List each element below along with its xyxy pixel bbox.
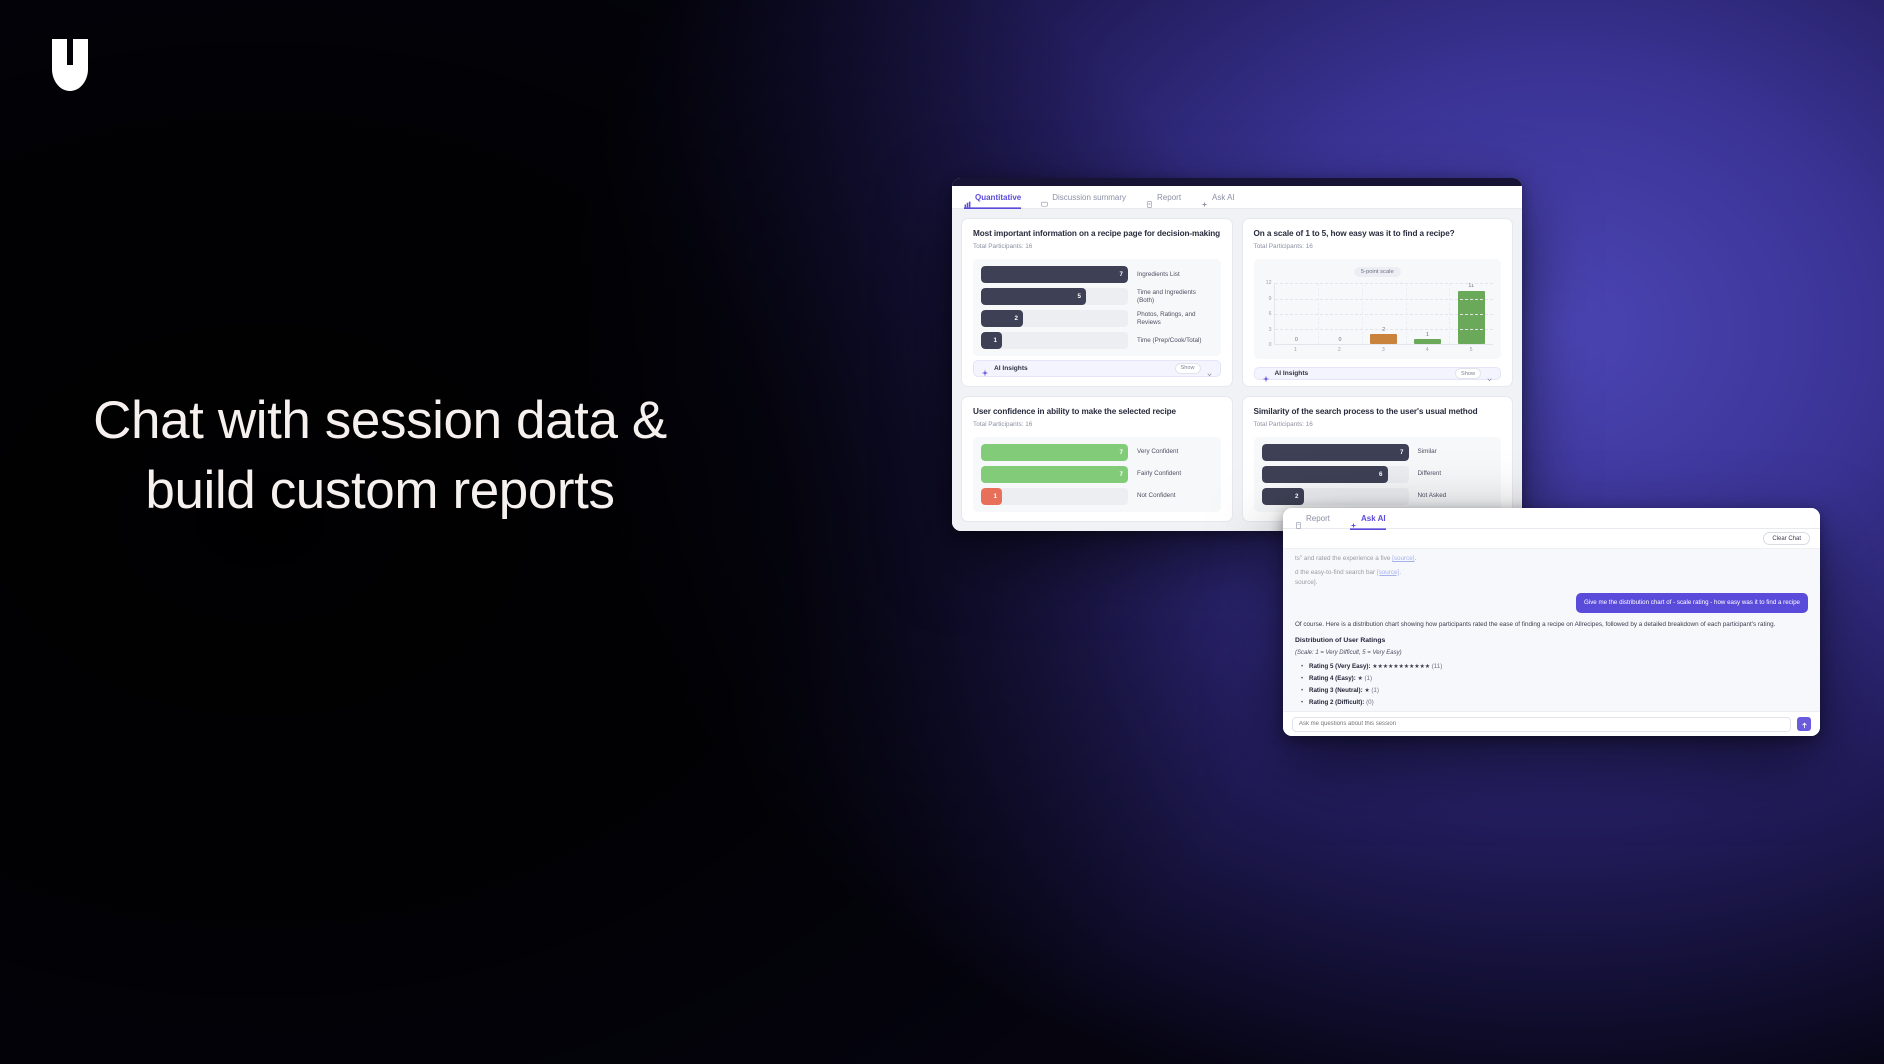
x-axis-tick: 4 [1405, 347, 1449, 353]
ai-insights-label: AI Insights [994, 365, 1028, 372]
x-axis-tick: 5 [1449, 347, 1493, 353]
bar-fill: 1 [981, 332, 1002, 349]
source-link[interactable]: [source] [1392, 555, 1414, 562]
dashboard-grid: Most important information on a recipe p… [952, 209, 1522, 531]
card-participants: Total Participants: 16 [973, 243, 1221, 250]
card-participants: Total Participants: 16 [973, 421, 1221, 428]
rating-list-item: Rating 4 (Easy): ★ (1) [1301, 674, 1808, 684]
card-participants: Total Participants: 16 [1254, 421, 1502, 428]
user-message-row: Give me the distribution chart of - scal… [1295, 593, 1808, 613]
scale-note: (Scale: 1 = Very Difficult, 5 = Very Eas… [1295, 649, 1808, 658]
bar-row: 1Not Confident [981, 488, 1213, 505]
card-title: Similarity of the search process to the … [1254, 407, 1502, 417]
distribution-section-title: Distribution of User Ratings [1295, 636, 1808, 647]
x-axis: 12345 [1274, 347, 1494, 353]
bar-fill: 7 [1262, 444, 1409, 461]
ai-insights-row[interactable]: AI Insights Show [1254, 367, 1502, 380]
send-button[interactable] [1797, 717, 1811, 731]
obscured-line-1: ts" and rated the experience a five [sou… [1295, 554, 1808, 564]
rating-list-item: Rating 5 (Very Easy): ★★★★★★★★★★★ (11) [1301, 662, 1808, 672]
bar-fill: 1 [981, 488, 1002, 505]
chevron-down-icon[interactable] [1206, 365, 1213, 372]
sparkle-icon [1262, 370, 1270, 378]
card-title: User confidence in ability to make the s… [973, 407, 1221, 417]
document-icon [1146, 194, 1153, 201]
column-value: 0 [1295, 337, 1298, 343]
card-title: Most important information on a recipe p… [973, 229, 1221, 239]
gridline [1275, 344, 1494, 345]
bar-row: 2Photos, Ratings, and Reviews [981, 310, 1213, 327]
bar-track: 2 [1262, 488, 1409, 505]
y-axis-tick: 3 [1269, 327, 1272, 333]
bar-label: Very Confident [1137, 448, 1178, 456]
rating-list-item: Rating 2 (Difficult): (0) [1301, 698, 1808, 708]
y-axis-tick: 6 [1269, 311, 1272, 317]
ai-insights-row[interactable]: AI Insights Show [973, 360, 1221, 377]
tab-label: Discussion summary [1052, 186, 1126, 209]
card-participants: Total Participants: 16 [1254, 243, 1502, 250]
bar-track: 7 [981, 444, 1128, 461]
bar-label: Not Asked [1418, 492, 1447, 500]
tab-label: Report [1306, 508, 1330, 530]
column-bar [1370, 334, 1397, 344]
bar-fill: 6 [1262, 466, 1388, 483]
bar-label: Time (Prep/Cook/Total) [1137, 337, 1202, 345]
bar-row: 7Ingredients List [981, 266, 1213, 283]
clear-chat-button[interactable]: Clear Chat [1763, 532, 1810, 545]
bar-label: Different [1418, 470, 1442, 478]
rating-count: (0) [1366, 699, 1374, 706]
rating-label: Rating 2 (Difficult): [1309, 699, 1364, 706]
bar-label: Not Confident [1137, 492, 1176, 500]
y-axis-tick: 9 [1269, 296, 1272, 302]
brand-logo [42, 33, 106, 97]
rating-label: Rating 4 (Easy): [1309, 675, 1356, 682]
bar-label: Photos, Ratings, and Reviews [1137, 311, 1213, 327]
headline-line-1: Chat with session data & [93, 391, 667, 450]
chat-tab-report[interactable]: Report [1295, 508, 1330, 530]
rating-list-item: Rating 3 (Neutral): ★ (1) [1301, 686, 1808, 696]
user-message-bubble: Give me the distribution chart of - scal… [1576, 593, 1808, 613]
tab-ask-ai[interactable]: Ask AI [1201, 186, 1235, 209]
y-axis-tick: 0 [1269, 342, 1272, 348]
card-search-similarity: Similarity of the search process to the … [1242, 396, 1514, 522]
tab-label: Quantitative [975, 186, 1021, 209]
card-title: On a scale of 1 to 5, how easy was it to… [1254, 229, 1502, 239]
column-value: 1 [1426, 332, 1429, 338]
tab-label: Report [1157, 186, 1181, 209]
quantitative-dashboard-window: Quantitative Discussion summary Report A… [952, 178, 1522, 531]
bar-label: Ingredients List [1137, 271, 1180, 279]
rating-count: (1) [1371, 687, 1379, 694]
bar-row: 1Time (Prep/Cook/Total) [981, 332, 1213, 349]
chat-tab-ask-ai[interactable]: Ask AI [1350, 508, 1386, 530]
ai-insights-show-button[interactable]: Show [1455, 368, 1481, 379]
bar-track: 2 [981, 310, 1128, 327]
rating-count: (11) [1432, 663, 1443, 670]
document-icon [1295, 515, 1302, 522]
obscured-line-3: source]. [1295, 578, 1808, 588]
tab-discussion-summary[interactable]: Discussion summary [1041, 186, 1126, 209]
chat-input[interactable] [1292, 717, 1791, 732]
horizontal-bar-chart-1: 7Ingredients List5Time and Ingredients (… [973, 259, 1221, 356]
bar-row: 7Very Confident [981, 444, 1213, 461]
tab-label: Ask AI [1212, 186, 1235, 209]
page-title: Chat with session data & build custom re… [0, 386, 760, 527]
bar-track: 1 [981, 488, 1128, 505]
tab-quantitative[interactable]: Quantitative [964, 186, 1021, 209]
rating-label: Rating 5 (Very Easy): [1309, 663, 1371, 670]
ratings-list: Rating 5 (Very Easy): ★★★★★★★★★★★ (11)Ra… [1301, 662, 1808, 711]
bar-track: 7 [1262, 444, 1409, 461]
chevron-down-icon[interactable] [1486, 370, 1493, 377]
bar-track: 1 [981, 332, 1128, 349]
source-link[interactable]: [source] [1377, 569, 1399, 576]
obscured-message-fragment: ts" and rated the experience a five [sou… [1295, 554, 1808, 587]
assistant-intro-text: Of course. Here is a distribution chart … [1295, 620, 1808, 630]
bar-label: Similar [1418, 448, 1437, 456]
obscured-line-2: d the easy-to-find search bar [source]. [1295, 568, 1808, 578]
chat-tabbar: Report Ask AI [1283, 508, 1820, 529]
bar-track: 7 [981, 466, 1128, 483]
horizontal-bar-chart-3: 7Very Confident7Fairly Confident1Not Con… [973, 437, 1221, 512]
bar-row: 7Fairly Confident [981, 466, 1213, 483]
x-axis-tick: 3 [1361, 347, 1405, 353]
bar-row: 5Time and Ingredients (Both) [981, 288, 1213, 305]
bar-track: 5 [981, 288, 1128, 305]
bar-row: 2Not Asked [1262, 488, 1494, 505]
gridline [1275, 283, 1494, 284]
dashboard-tabbar: Quantitative Discussion summary Report A… [952, 186, 1522, 209]
plot-area: 002111 [1274, 283, 1494, 345]
bar-label: Time and Ingredients (Both) [1137, 289, 1213, 305]
bar-fill: 7 [981, 444, 1128, 461]
bar-fill: 2 [981, 310, 1023, 327]
card-scale-easy-to-find: On a scale of 1 to 5, how easy was it to… [1242, 218, 1514, 387]
horizontal-bar-chart-4: 7Similar6Different2Not Asked [1254, 437, 1502, 512]
bar-row: 7Similar [1262, 444, 1494, 461]
rating-stars: ★★★★★★★★★★★ [1372, 663, 1430, 670]
card-user-confidence: User confidence in ability to make the s… [961, 396, 1233, 522]
column-chart-container: 5-point scale 129630 002111 12345 [1254, 259, 1502, 359]
gridline [1275, 329, 1494, 330]
column-plot: 129630 002111 [1262, 283, 1494, 345]
scale-badge: 5-point scale [1354, 267, 1401, 277]
headline-line-2: build custom reports [0, 456, 760, 526]
hero-section: Chat with session data & build custom re… [0, 0, 1884, 1064]
x-axis-tick: 2 [1317, 347, 1361, 353]
card-most-important-information: Most important information on a recipe p… [961, 218, 1233, 387]
bar-fill: 5 [981, 288, 1086, 305]
gridline [1275, 314, 1494, 315]
bar-track: 7 [981, 266, 1128, 283]
sparkle-icon [981, 364, 989, 372]
x-axis-tick: 1 [1274, 347, 1318, 353]
gridline-vertical [1406, 283, 1407, 344]
y-axis: 129630 [1262, 283, 1274, 345]
bar-label: Fairly Confident [1137, 470, 1181, 478]
gridline-vertical [1362, 283, 1363, 344]
rating-stars: ★ [1358, 675, 1363, 682]
ai-insights-show-button[interactable]: Show [1175, 363, 1201, 374]
bar-chart-icon [964, 194, 971, 201]
ask-ai-chat-window: Report Ask AI Clear Chat ts" and rated t… [1283, 508, 1820, 736]
chat-message-list[interactable]: ts" and rated the experience a five [sou… [1283, 549, 1820, 711]
rating-count: (1) [1364, 675, 1372, 682]
bar-row: 6Different [1262, 466, 1494, 483]
chat-toolbar: Clear Chat [1283, 529, 1820, 549]
sparkle-icon [1350, 515, 1357, 522]
tab-label: Ask AI [1361, 508, 1386, 530]
gridline-vertical [1318, 283, 1319, 344]
gridline-vertical [1449, 283, 1450, 344]
y-axis-tick: 12 [1266, 280, 1272, 286]
arrow-up-icon [1801, 717, 1808, 732]
window-titlebar [952, 178, 1522, 186]
sparkle-icon [1201, 194, 1208, 201]
ai-insights-label: AI Insights [1275, 370, 1309, 377]
tab-report[interactable]: Report [1146, 186, 1181, 209]
column-value: 0 [1339, 337, 1342, 343]
bar-fill: 7 [981, 266, 1128, 283]
rating-label: Rating 3 (Neutral): [1309, 687, 1363, 694]
bar-fill: 7 [981, 466, 1128, 483]
rating-stars: ★ [1364, 687, 1369, 694]
message-icon [1041, 194, 1048, 201]
gridline [1275, 299, 1494, 300]
chat-input-bar [1283, 711, 1820, 736]
bar-track: 6 [1262, 466, 1409, 483]
bar-fill: 2 [1262, 488, 1304, 505]
